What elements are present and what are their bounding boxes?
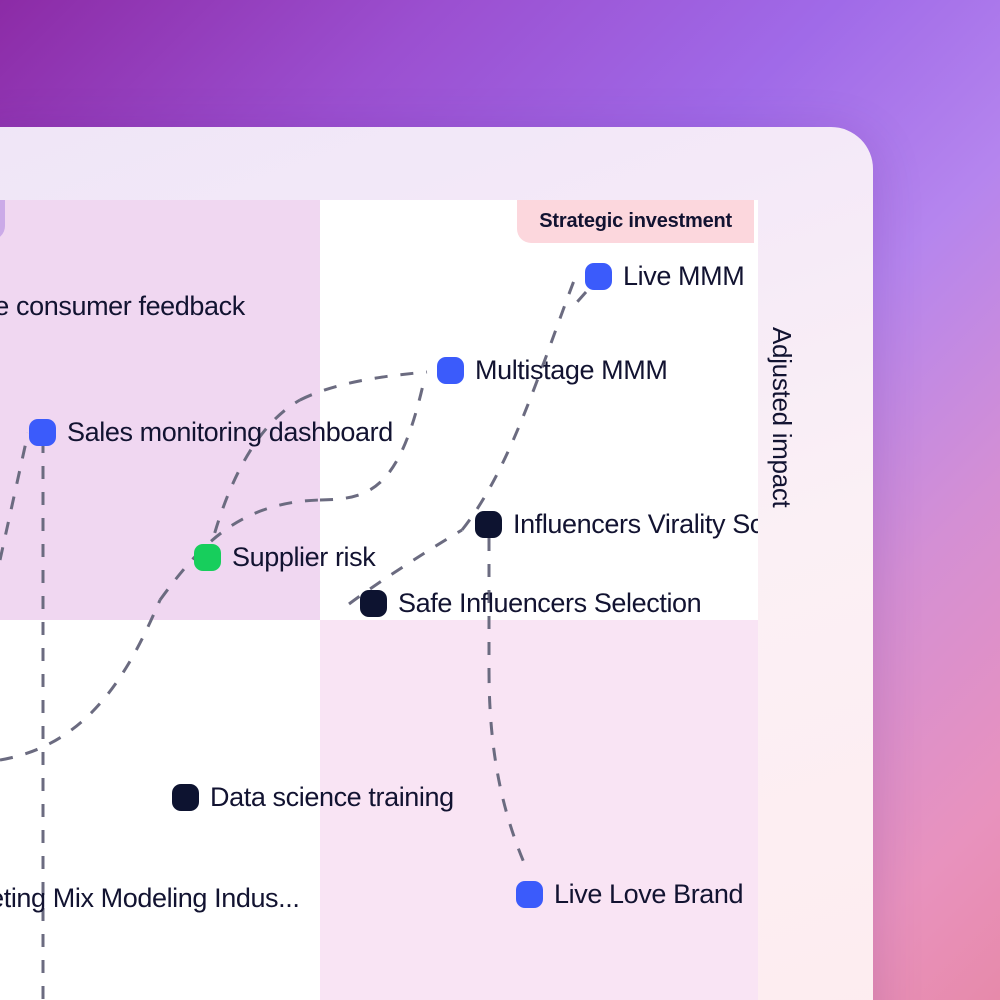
data-point-data-science-training[interactable]: Data science training xyxy=(172,784,454,811)
data-point-label: Sales monitoring dashboard xyxy=(67,419,393,446)
data-point-label-clipped-marketing-mix-modeling[interactable]: keting Mix Modeling Indus... xyxy=(0,885,299,912)
marker-icon-navy xyxy=(172,784,199,811)
data-point-influencers-virality-score[interactable]: Influencers Virality Sco xyxy=(475,511,758,538)
data-point-sales-monitoring-dashboard[interactable]: Sales monitoring dashboard xyxy=(29,419,393,446)
prioritization-card: Strategic investment xyxy=(0,127,873,1000)
data-point-safe-influencers-selection[interactable]: Safe Influencers Selection xyxy=(360,590,701,617)
marker-icon-navy xyxy=(475,511,502,538)
marker-icon-blue xyxy=(585,263,612,290)
data-point-label: Data science training xyxy=(210,784,454,811)
data-point-label: Live MMM xyxy=(623,263,744,290)
marker-icon-blue xyxy=(516,881,543,908)
quadrant-chip-strategic-investment: Strategic investment xyxy=(517,200,754,243)
data-point-label-clipped-consumer-feedback[interactable]: life consumer feedback xyxy=(0,293,245,320)
marker-icon-navy xyxy=(360,590,387,617)
data-point-live-mmm[interactable]: Live MMM xyxy=(585,263,744,290)
data-point-label: Influencers Virality Sco xyxy=(513,511,758,538)
marker-icon-blue xyxy=(29,419,56,446)
data-point-label: Multistage MMM xyxy=(475,357,667,384)
data-point-live-love-brand[interactable]: Live Love Brand xyxy=(516,881,743,908)
marker-icon-blue xyxy=(437,357,464,384)
data-point-label: Supplier risk xyxy=(232,544,375,571)
data-point-supplier-risk[interactable]: Supplier risk xyxy=(194,544,375,571)
marker-icon-green xyxy=(194,544,221,571)
data-point-multistage-mmm[interactable]: Multistage MMM xyxy=(437,357,667,384)
data-point-label: Safe Influencers Selection xyxy=(398,590,701,617)
data-point-label: Live Love Brand xyxy=(554,881,743,908)
data-point-label: life consumer feedback xyxy=(0,293,245,320)
scatter-plot-area[interactable]: Strategic investment xyxy=(0,200,758,1000)
axis-y-title: Adjusted impact xyxy=(766,327,797,507)
data-point-label: keting Mix Modeling Indus... xyxy=(0,885,299,912)
